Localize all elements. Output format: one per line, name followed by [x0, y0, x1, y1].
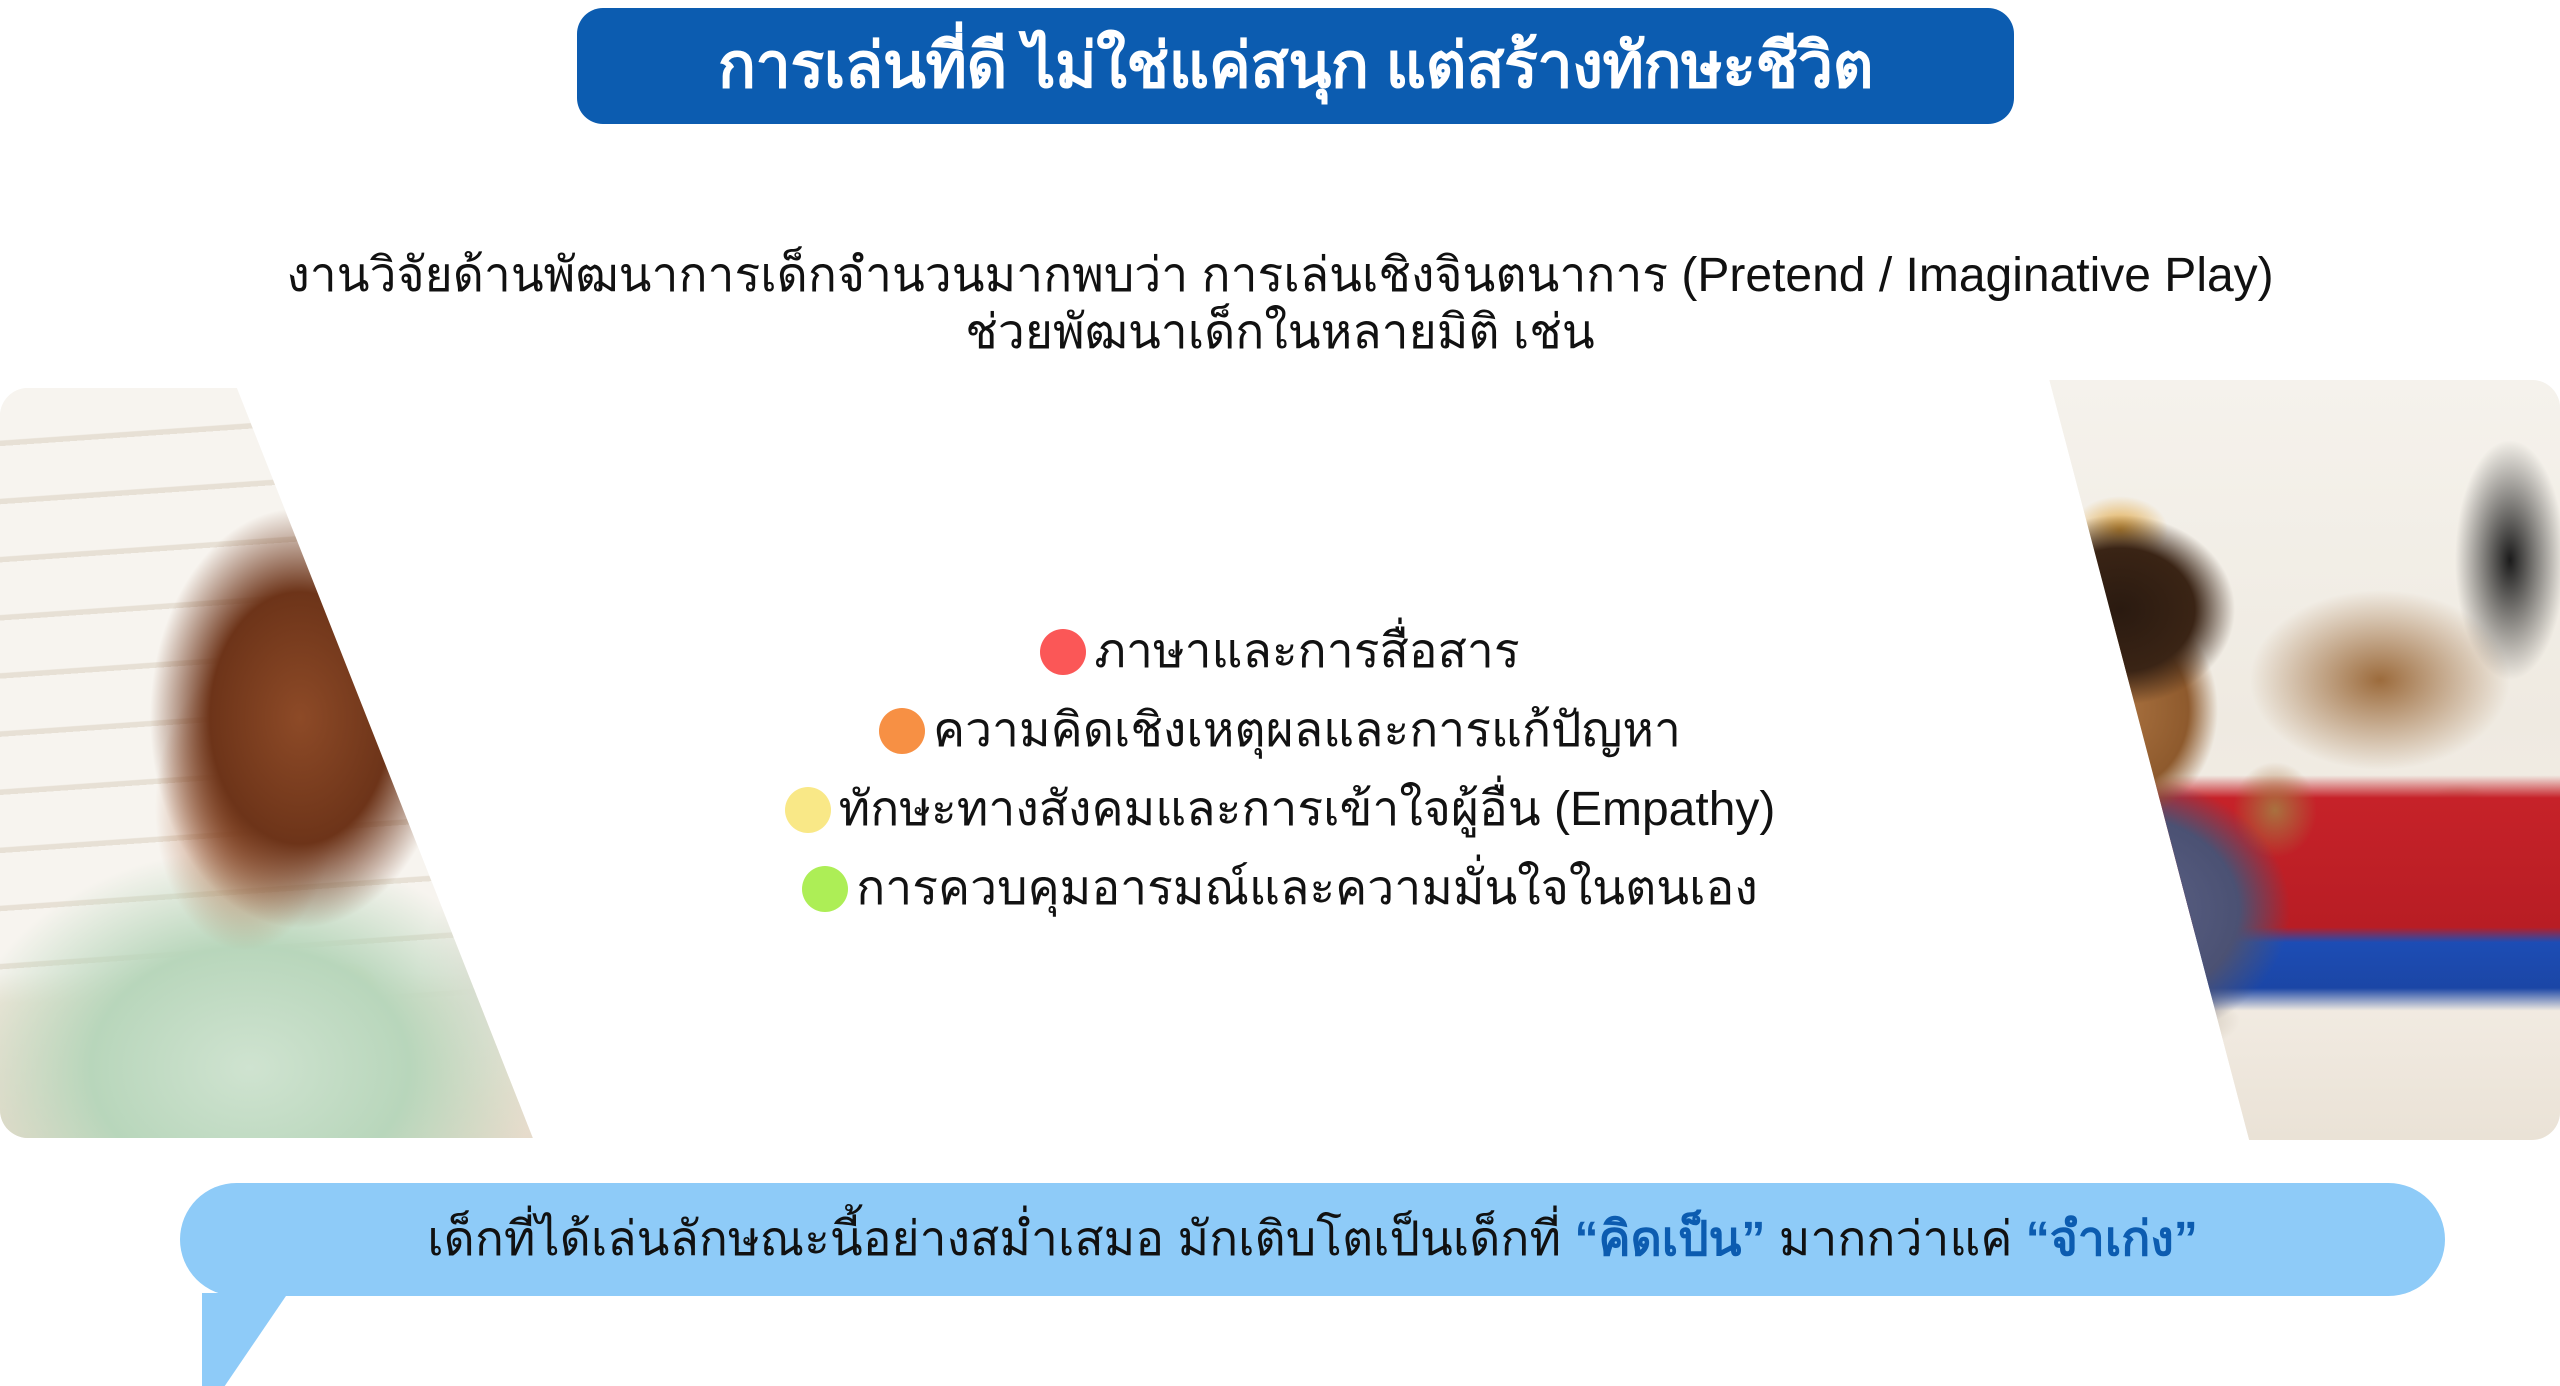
slide-canvas: การเล่นที่ดี ไม่ใช่แค่สนุก แต่สร้างทักษะ… — [0, 0, 2560, 1386]
list-item-label: ความคิดเชิงเหตุผลและการแก้ปัญหา — [933, 707, 1681, 755]
bubble-highlight-1: “คิดเป็น” — [1574, 1213, 1765, 1266]
bubble-part-2: มากกว่าแค่ — [1765, 1213, 2025, 1266]
speech-bubble-text: เด็กที่ได้เล่นลักษณะนี้อย่างสม่ำเสมอ มัก… — [427, 1216, 2198, 1264]
bubble-part-1: เด็กที่ได้เล่นลักษณะนี้อย่างสม่ำเสมอ มัก… — [427, 1213, 1574, 1266]
benefits-list: ภาษาและการสื่อสาร ความคิดเชิงเหตุผลและกา… — [0, 612, 2560, 928]
subtitle-line-1: งานวิจัยด้านพัฒนาการเด็กจำนวนมากพบว่า กา… — [0, 248, 2560, 305]
bullet-dot-icon — [802, 866, 848, 912]
title-banner: การเล่นที่ดี ไม่ใช่แค่สนุก แต่สร้างทักษะ… — [577, 8, 2014, 124]
bubble-highlight-2: “จำเก่ง” — [2026, 1213, 2198, 1266]
conclusion-callout: เด็กที่ได้เล่นลักษณะนี้อย่างสม่ำเสมอ มัก… — [180, 1183, 2560, 1383]
list-item-label: การควบคุมอารมณ์และความมั่นใจในตนเอง — [856, 865, 1758, 913]
bullet-dot-icon — [879, 708, 925, 754]
subtitle-line-2: ช่วยพัฒนาเด็กในหลายมิติ เช่น — [0, 305, 2560, 362]
subtitle-block: งานวิจัยด้านพัฒนาการเด็กจำนวนมากพบว่า กา… — [0, 248, 2560, 361]
speech-bubble: เด็กที่ได้เล่นลักษณะนี้อย่างสม่ำเสมอ มัก… — [180, 1183, 2445, 1296]
list-item: ความคิดเชิงเหตุผลและการแก้ปัญหา — [879, 691, 1681, 770]
bullet-dot-icon — [785, 787, 831, 833]
list-item: ภาษาและการสื่อสาร — [1040, 612, 1519, 691]
list-item-label: ทักษะทางสังคมและการเข้าใจผู้อื่น (Empath… — [839, 786, 1776, 834]
list-item-label: ภาษาและการสื่อสาร — [1094, 628, 1519, 676]
list-item: การควบคุมอารมณ์และความมั่นใจในตนเอง — [802, 849, 1758, 928]
bullet-dot-icon — [1040, 629, 1086, 675]
page-title: การเล่นที่ดี ไม่ใช่แค่สนุก แต่สร้างทักษะ… — [718, 35, 1873, 98]
list-item: ทักษะทางสังคมและการเข้าใจผู้อื่น (Empath… — [785, 770, 1776, 849]
speech-bubble-tail — [202, 1293, 288, 1386]
